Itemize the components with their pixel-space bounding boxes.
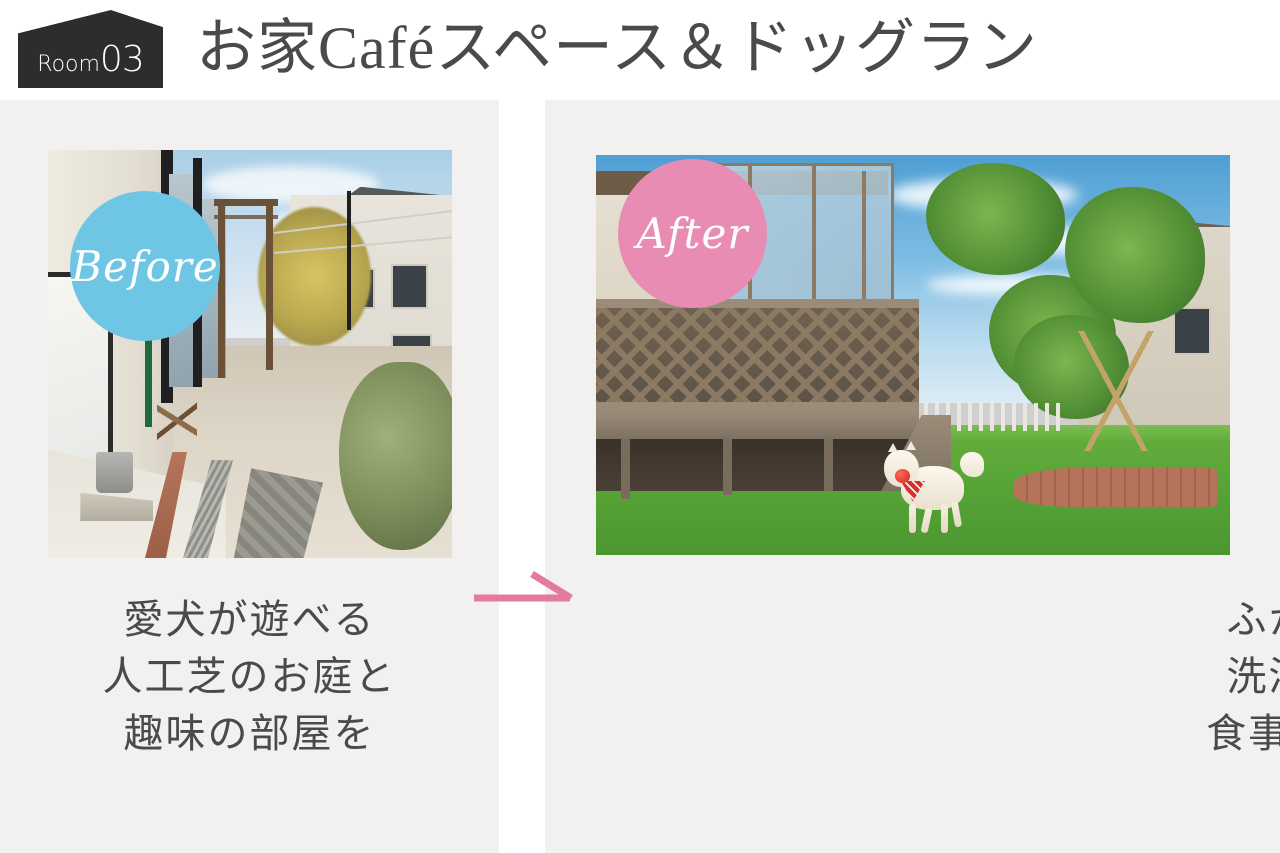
before-tools — [157, 387, 197, 444]
before-after-arrow — [472, 568, 576, 612]
caption-before-line-3: 趣味の部屋を — [0, 706, 499, 763]
caption-after-line-1: ふかふか心地よい人工芝 — [1090, 592, 1280, 649]
after-brick-planter — [1014, 467, 1217, 507]
after-deck-post — [621, 439, 630, 499]
page-title: お家Caféスペース＆ドッグラン — [196, 6, 1038, 90]
dog-ball — [895, 469, 910, 483]
before-pergola-post — [266, 199, 273, 370]
after-deck-understructure — [596, 439, 919, 491]
dog-leg — [920, 507, 932, 533]
dog-tail — [960, 452, 984, 477]
caption-before-line-2: 人工芝のお庭と — [0, 649, 499, 706]
page-header: Room03 お家Caféスペース＆ドッグラン — [0, 0, 1280, 100]
after-deck-post — [723, 439, 732, 495]
before-bucket — [96, 452, 132, 493]
after-dog — [884, 435, 985, 539]
before-neighbor-window — [391, 264, 427, 309]
caption-after-line-2: 洗濯物を干せるデッキと — [1090, 649, 1280, 706]
room-number-badge: Room03 — [18, 10, 163, 88]
before-bush — [339, 362, 452, 550]
after-neighbor-window — [1173, 307, 1211, 355]
dog-ear — [888, 443, 898, 452]
photo-before: Before — [48, 150, 452, 558]
caption-after: ふかふか心地よい人工芝 洗濯物を干せるデッキと 食事やお酒を楽しむルーム — [1090, 592, 1280, 762]
before-after-panels: Before 愛犬が遊べる 人工芝のお庭と 趣味の部屋を — [0, 100, 1280, 853]
dog-ear — [906, 441, 916, 450]
dog-leg — [951, 501, 962, 527]
after-lattice-railing — [596, 299, 919, 411]
arrow-icon — [472, 568, 576, 612]
caption-after-line-3: 食事やお酒を楽しむルーム — [1090, 706, 1280, 763]
room-badge-word: Room — [37, 52, 100, 77]
after-bamboo-trellis — [1072, 331, 1161, 451]
before-utility-pole — [347, 191, 351, 330]
room-badge-number: 03 — [100, 39, 144, 80]
after-deck-post — [824, 439, 833, 491]
dog-leg — [909, 504, 916, 533]
panel-before: Before 愛犬が遊べる 人工芝のお庭と 趣味の部屋を — [0, 100, 499, 853]
badge-after: After — [618, 159, 767, 308]
dog-leg — [941, 504, 948, 533]
room-badge-label: Room03 — [18, 39, 163, 80]
photo-after: After — [596, 155, 1230, 555]
page-root: Room03 お家Caféスペース＆ドッグラン — [0, 0, 1280, 853]
panel-after: After ふかふか心地よい人工芝 洗濯物を干せるデッキと 食事やお酒を楽しむル… — [545, 100, 1280, 853]
before-pergola-beam — [214, 215, 279, 219]
caption-before: 愛犬が遊べる 人工芝のお庭と 趣味の部屋を — [0, 592, 499, 762]
caption-before-line-1: 愛犬が遊べる — [0, 592, 499, 649]
before-pergola-beam — [214, 199, 279, 206]
badge-before: Before — [70, 191, 220, 341]
